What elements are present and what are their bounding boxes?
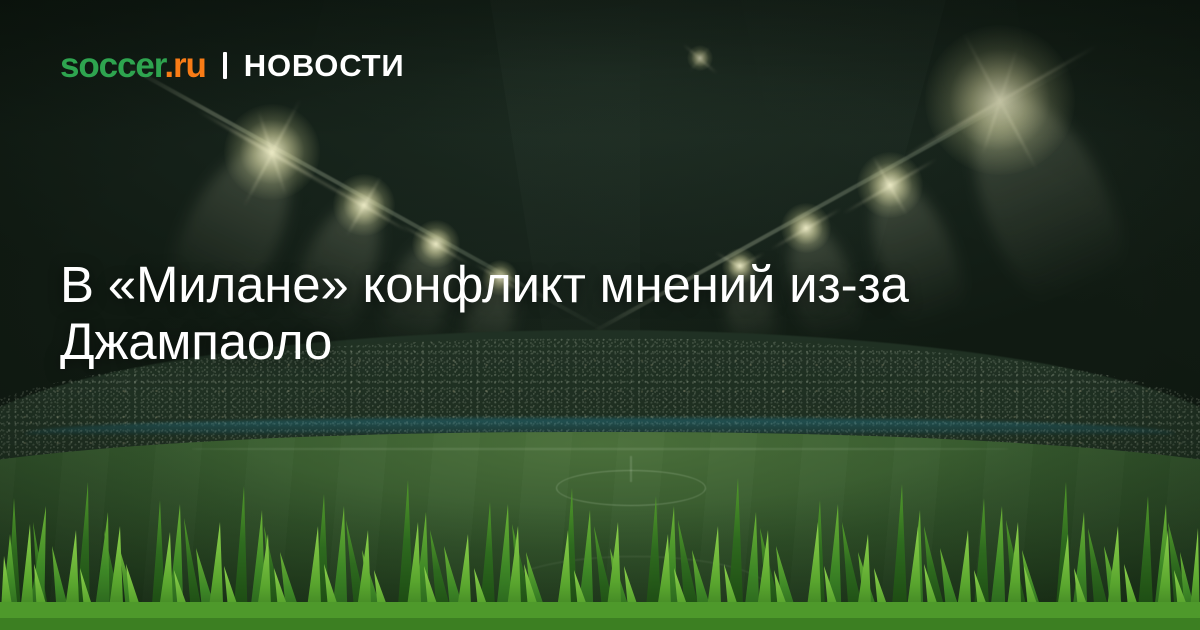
logo-word-ru: .ru xyxy=(164,46,205,85)
foreground-grass xyxy=(0,460,1200,630)
news-share-card: soccer.ru НОВОСТИ В «Милане» конфликт мн… xyxy=(0,0,1200,630)
soccer-ru-logo[interactable]: soccer.ru xyxy=(60,48,206,83)
header-divider xyxy=(223,52,227,79)
article-headline: В «Милане» конфликт мнений из-за Джампао… xyxy=(60,256,1140,370)
logo-word-soccer: soccer xyxy=(60,46,164,85)
section-label-novosti: НОВОСТИ xyxy=(244,50,405,81)
site-header: soccer.ru НОВОСТИ xyxy=(60,48,404,83)
